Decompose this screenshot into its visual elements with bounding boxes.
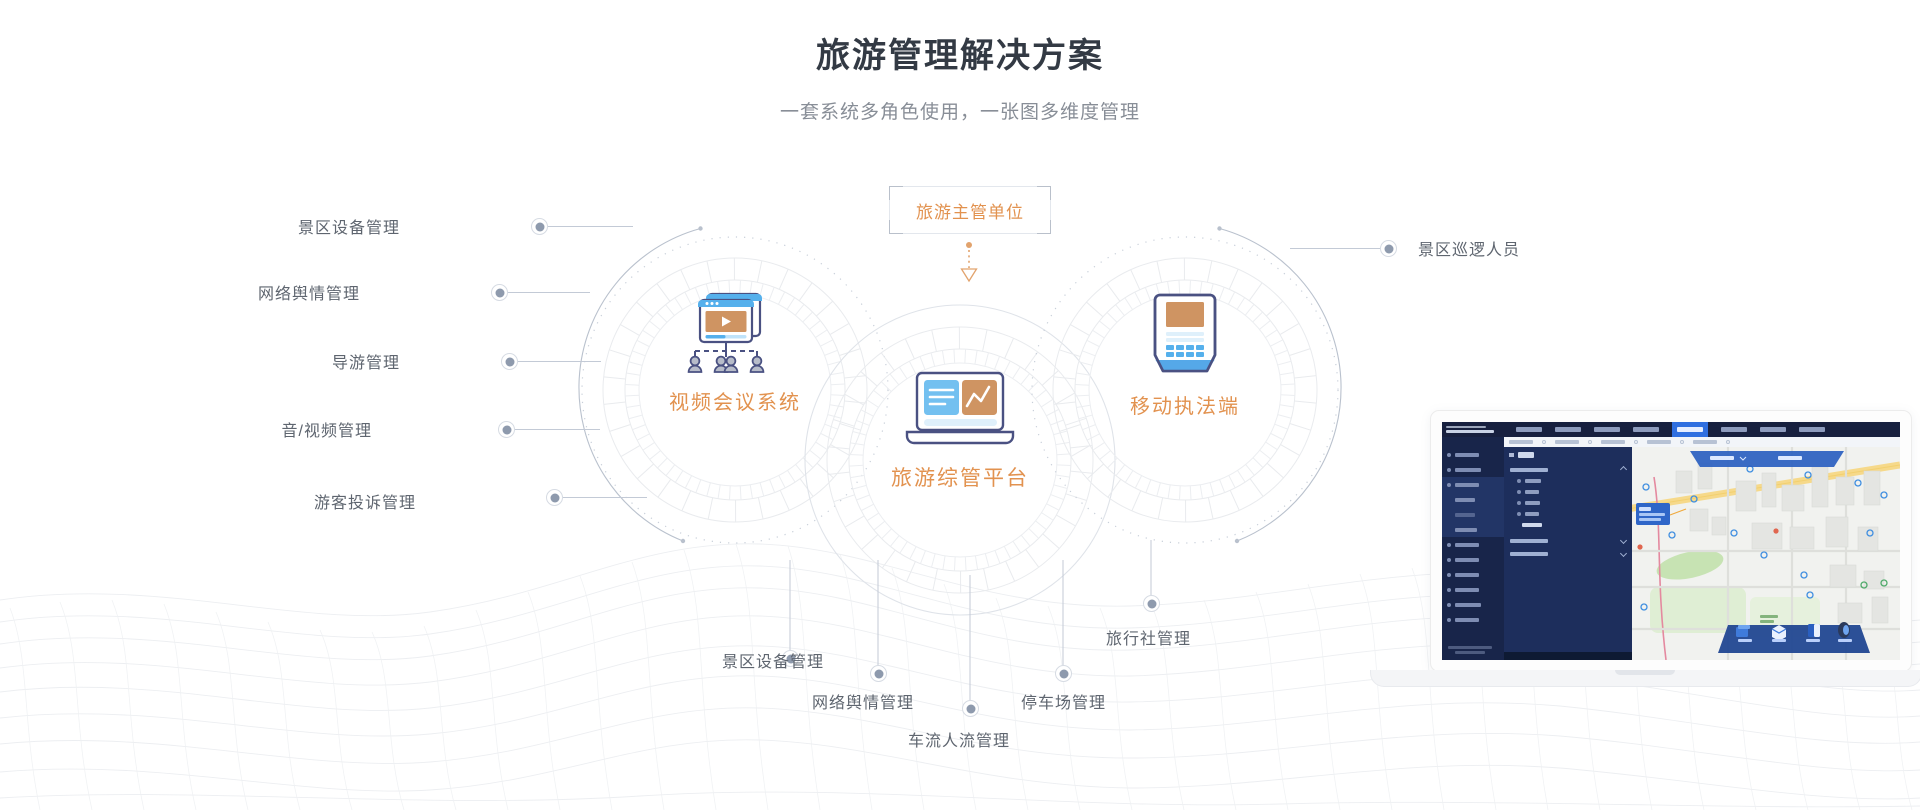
ring-video-conference-caption: 视频会议系统 xyxy=(635,386,835,415)
solution-diagram-page: 旅游管理解决方案 一套系统多角色使用，一张图多维度管理 xyxy=(0,0,1920,810)
map-top-controls xyxy=(1690,451,1844,467)
app-tree-body[interactable] xyxy=(1504,461,1632,563)
ring-mobile-content[interactable]: 移动执法端 xyxy=(1085,290,1285,450)
left-label-2[interactable]: 导游管理 xyxy=(170,349,400,373)
app-sidebar-item-6[interactable] xyxy=(1442,537,1504,552)
app-nav-item-7[interactable] xyxy=(1799,427,1825,432)
ring-platform-content[interactable]: 旅游综管平台 xyxy=(860,370,1060,530)
ring-video-conference-content[interactable]: 视频会议系统 xyxy=(635,290,835,450)
right-line-0 xyxy=(1290,248,1380,249)
gov-unit-label: 旅游主管单位 xyxy=(916,198,1024,223)
left-dot-2[interactable] xyxy=(501,353,518,370)
left-label-4[interactable]: 游客投诉管理 xyxy=(186,489,416,513)
laptop-dashboard-icon xyxy=(901,370,1019,450)
left-line-2 xyxy=(518,361,601,362)
chevron-down-icon[interactable] xyxy=(1620,537,1627,544)
app-tab-close-1-icon[interactable] xyxy=(1588,440,1592,444)
app-nav-item-0[interactable] xyxy=(1516,427,1542,432)
app-tree-node-0[interactable] xyxy=(1510,464,1626,475)
app-tab-1[interactable] xyxy=(1555,440,1579,444)
corner-top-right xyxy=(1037,186,1051,200)
app-nav-item-3[interactable] xyxy=(1633,427,1659,432)
corner-bottom-left xyxy=(889,220,903,234)
app-nav-item-1[interactable] xyxy=(1555,427,1581,432)
laptop-notch xyxy=(1615,670,1675,675)
left-line-4 xyxy=(563,497,647,498)
app-sidebar-item-1[interactable] xyxy=(1442,462,1504,477)
bottom-label-4[interactable]: 旅行社管理 xyxy=(1106,625,1191,649)
laptop-screen xyxy=(1430,410,1912,672)
box-edge-left xyxy=(889,199,890,221)
box-edge-bottom xyxy=(902,233,1038,234)
left-label-3[interactable]: 音/视频管理 xyxy=(142,417,372,441)
chevron-up-icon[interactable] xyxy=(1620,466,1627,473)
app-nav-item-4-active[interactable] xyxy=(1672,422,1708,437)
app-map-canvas[interactable] xyxy=(1632,447,1900,660)
gov-unit-box[interactable]: 旅游主管单位 xyxy=(889,186,1051,234)
app-tab-3[interactable] xyxy=(1647,440,1671,444)
box-edge-top xyxy=(902,186,1038,187)
app-tree-node-1[interactable] xyxy=(1510,534,1626,547)
app-top-nav[interactable] xyxy=(1442,422,1900,437)
left-dot-0[interactable] xyxy=(531,218,548,235)
menu-icon[interactable] xyxy=(1509,453,1514,457)
app-tree-leaf-1[interactable] xyxy=(1510,486,1626,497)
bottom-dot-1[interactable] xyxy=(870,665,887,682)
app-tab-close-0-icon[interactable] xyxy=(1542,440,1546,444)
app-tree-leaf-0[interactable] xyxy=(1510,475,1626,486)
bottom-dot-2[interactable] xyxy=(962,700,979,717)
app-logo xyxy=(1442,422,1504,437)
app-sidebar-item-3[interactable] xyxy=(1442,492,1504,507)
app-sidebar-item-7[interactable] xyxy=(1442,552,1504,567)
app-sidebar-item-10[interactable] xyxy=(1442,597,1504,612)
app-sidebar-item-8[interactable] xyxy=(1442,567,1504,582)
gov-to-platform-arrow xyxy=(962,242,977,281)
bottom-label-1[interactable]: 网络舆情管理 xyxy=(812,689,914,713)
app-tab-strip[interactable] xyxy=(1504,437,1900,447)
app-tab-close-2-icon[interactable] xyxy=(1634,440,1638,444)
bottom-connector-lines xyxy=(790,540,1151,700)
app-tab-2[interactable] xyxy=(1601,440,1625,444)
app-tree-panel[interactable] xyxy=(1504,447,1632,652)
app-sidebar-item-5[interactable] xyxy=(1442,522,1504,537)
app-tree-node-2[interactable] xyxy=(1510,547,1626,560)
app-sidebar-item-11[interactable] xyxy=(1442,612,1504,627)
video-conference-icon xyxy=(680,290,790,376)
corner-top-left xyxy=(889,186,903,200)
app-tab-close-4-icon[interactable] xyxy=(1726,440,1730,444)
app-nav-item-6[interactable] xyxy=(1760,427,1786,432)
app-nav-item-5[interactable] xyxy=(1721,427,1747,432)
corner-bottom-right xyxy=(1037,220,1051,234)
chevron-down-icon-2[interactable] xyxy=(1620,550,1627,557)
right-label-0[interactable]: 景区巡逻人员 xyxy=(1418,236,1520,260)
app-tab-close-3-icon[interactable] xyxy=(1680,440,1684,444)
bottom-dot-3[interactable] xyxy=(1055,665,1072,682)
app-tab-4[interactable] xyxy=(1693,440,1717,444)
app-tab-0[interactable] xyxy=(1509,440,1533,444)
left-dot-1[interactable] xyxy=(491,284,508,301)
app-tree-leaf-2[interactable] xyxy=(1510,497,1626,508)
bottom-label-3[interactable]: 停车场管理 xyxy=(1021,689,1106,713)
left-line-1 xyxy=(508,292,590,293)
app-nav-items[interactable] xyxy=(1516,422,1825,437)
bottom-dot-4[interactable] xyxy=(1143,595,1160,612)
app-viewport xyxy=(1442,422,1900,660)
box-edge-right xyxy=(1050,199,1051,221)
bottom-label-0[interactable]: 景区设备管理 xyxy=(722,648,824,672)
left-dot-4[interactable] xyxy=(546,489,563,506)
bottom-label-2[interactable]: 车流人流管理 xyxy=(908,727,1010,751)
app-tree-header-label xyxy=(1518,452,1534,458)
ring-platform-caption: 旅游综管平台 xyxy=(860,462,1060,492)
left-line-0 xyxy=(548,226,633,227)
map-bottom-dock xyxy=(1718,622,1870,653)
app-sidebar-footer xyxy=(1448,646,1498,654)
app-nav-item-2[interactable] xyxy=(1594,427,1620,432)
app-sidebar-item-2[interactable] xyxy=(1442,477,1504,492)
map-render xyxy=(1632,447,1900,660)
app-sidebar-item-9[interactable] xyxy=(1442,582,1504,597)
app-tree-leaf-4[interactable] xyxy=(1510,519,1626,531)
right-dot-0[interactable] xyxy=(1380,240,1397,257)
app-sidebar[interactable] xyxy=(1442,437,1504,660)
app-tree-header xyxy=(1504,449,1632,461)
left-line-3 xyxy=(515,429,600,430)
left-dot-3[interactable] xyxy=(498,421,515,438)
app-sidebar-item-4[interactable] xyxy=(1442,507,1504,522)
handheld-terminal-icon xyxy=(1146,290,1224,384)
left-label-1[interactable]: 网络舆情管理 xyxy=(130,280,360,304)
laptop-mockup xyxy=(1370,410,1920,740)
app-tree-leaf-3[interactable] xyxy=(1510,508,1626,519)
left-label-0[interactable]: 景区设备管理 xyxy=(170,214,400,238)
app-sidebar-item-0[interactable] xyxy=(1442,447,1504,462)
ring-mobile-caption: 移动执法端 xyxy=(1085,390,1285,419)
